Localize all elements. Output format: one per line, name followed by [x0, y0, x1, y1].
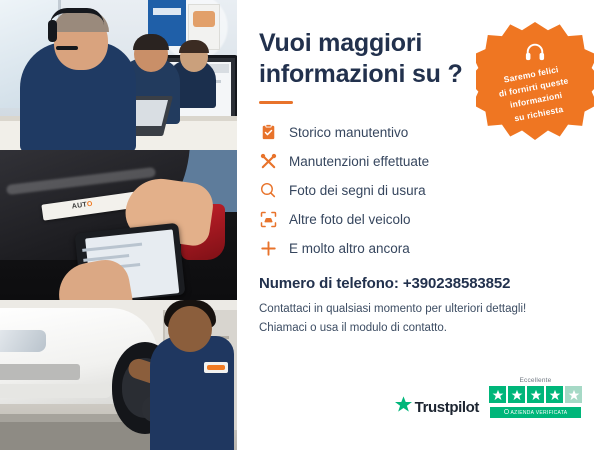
list-item: Foto dei segni di usura — [259, 181, 578, 199]
content-panel: Vuoi maggiori informazioni su ? Saremo f… — [237, 0, 600, 450]
list-item: Altre foto del veicolo — [259, 210, 578, 228]
feature-list: Storico manutentivo Manutenzioni effettu… — [259, 123, 578, 257]
verified-label: AZIENDA VERIFICATA — [511, 410, 568, 416]
contact-instructions: Contattaci in qualsiasi momento per ulte… — [259, 300, 578, 337]
mechanic-decor — [150, 336, 234, 450]
trustpilot-rating: Eccellente AZIENDA VERIFICATA — [489, 377, 582, 418]
title-divider — [259, 101, 293, 104]
rating-stars — [489, 386, 582, 403]
star-filled — [508, 386, 525, 403]
list-item: Manutenzioni effettuate — [259, 152, 578, 170]
rating-label: Eccellente — [520, 377, 552, 384]
trustpilot-widget[interactable]: Trustpilot Eccellente AZIENDA VERIFICATA — [395, 377, 582, 418]
star-filled — [489, 386, 506, 403]
list-item: E molto altro ancora — [259, 239, 578, 257]
plus-icon — [259, 239, 277, 257]
trustpilot-star-icon — [395, 396, 412, 418]
photo-column: AUTO — [0, 0, 237, 450]
verified-check-icon — [504, 409, 509, 416]
star-filled — [527, 386, 544, 403]
list-item-label: Storico manutentivo — [289, 125, 408, 140]
promo-banner: AUTO — [0, 0, 600, 450]
verified-badge: AZIENDA VERIFICATA — [490, 407, 581, 418]
list-item-label: E molto altro ancora — [289, 241, 410, 256]
magnifier-icon — [259, 181, 277, 199]
trustpilot-wordmark: Trustpilot — [415, 399, 479, 416]
list-item-label: Altre foto del veicolo — [289, 212, 411, 227]
page-title: Vuoi maggiori informazioni su ? — [259, 28, 474, 89]
car-scan-frame-icon — [259, 210, 277, 228]
photo-call-center — [0, 0, 237, 150]
list-item-label: Foto dei segni di usura — [289, 183, 426, 198]
photo-wheel-service — [0, 300, 237, 450]
phone-number[interactable]: Numero di telefono: +390238583852 — [259, 275, 578, 292]
list-item-label: Manutenzioni effettuate — [289, 154, 429, 169]
photo-paint-inspection: AUTO — [0, 150, 237, 300]
callout-badge: Saremo felici di fornirti queste informa… — [476, 22, 594, 140]
tools-cross-icon — [259, 152, 277, 170]
headset-icon — [524, 42, 546, 67]
star-filled — [546, 386, 563, 403]
contact-line-1: Contattaci in qualsiasi momento per ulte… — [259, 300, 578, 319]
person-foreground-headset — [20, 42, 136, 150]
contact-line-2: Chiamaci o usa il modulo di contatto. — [259, 319, 578, 338]
trustpilot-logo: Trustpilot — [395, 396, 479, 418]
clipboard-check-icon — [259, 123, 277, 141]
star-partial — [565, 386, 582, 403]
